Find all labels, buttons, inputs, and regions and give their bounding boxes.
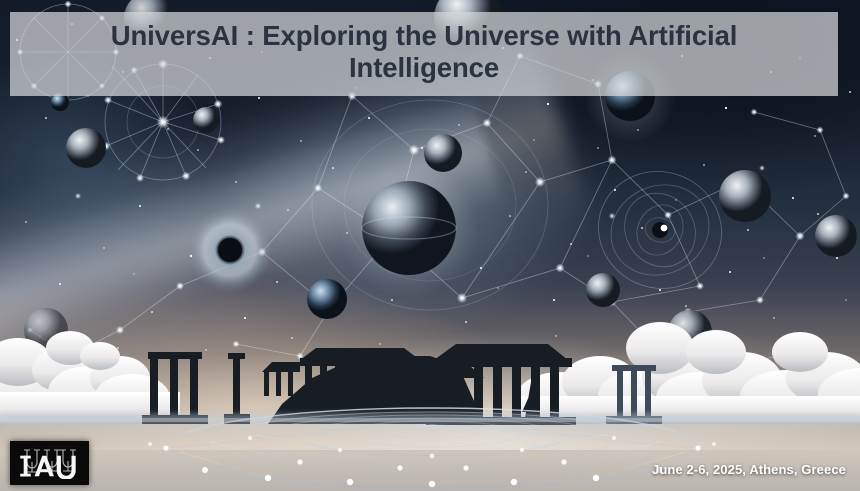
iau-logo-mark <box>17 447 83 479</box>
date-location-label: June 2-6, 2025, Athens, Greece <box>652 462 846 477</box>
cloud-bank-right <box>516 322 860 424</box>
acropolis-silhouette <box>142 344 576 425</box>
iau-logo[interactable] <box>10 441 89 485</box>
sea-haze <box>0 414 860 440</box>
title-banner: UniversAI : Exploring the Universe with … <box>10 12 838 96</box>
conference-poster: UniversAI : Exploring the Universe with … <box>0 0 860 491</box>
page-title: UniversAI : Exploring the Universe with … <box>40 20 808 85</box>
